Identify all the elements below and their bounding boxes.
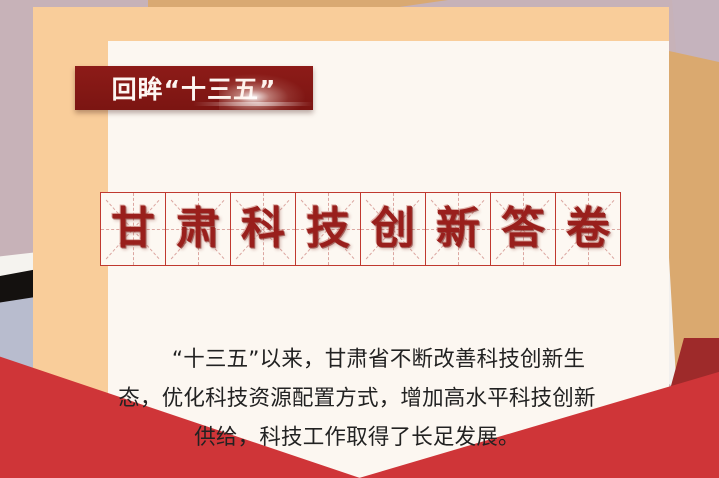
headline-grid-cell: 甘 — [101, 193, 166, 265]
headline-grid-cell: 科 — [231, 193, 296, 265]
headline-character: 答 — [491, 193, 555, 265]
poster-canvas: 回眸“十三五” 甘 肃 科 — [0, 0, 719, 478]
headline-character: 科 — [231, 193, 295, 265]
backdrop-right-lavender-sheet — [672, 0, 719, 400]
headline-character: 肃 — [166, 193, 230, 265]
headline-character: 新 — [426, 193, 490, 265]
headline-grid-cell: 技 — [296, 193, 361, 265]
headline-grid-cell: 卷 — [556, 193, 620, 265]
section-banner: 回眸“十三五” — [75, 66, 313, 110]
banner-light-streak-icon — [193, 102, 313, 106]
headline-grid: 甘 肃 科 技 创 — [100, 192, 621, 266]
headline-grid-cell: 创 — [361, 193, 426, 265]
headline-grid-cell: 新 — [426, 193, 491, 265]
headline-character: 甘 — [101, 193, 165, 265]
headline-character: 创 — [361, 193, 425, 265]
body-paragraph: “十三五”以来，甘肃省不断改善科技创新生态，优化科技资源配置方式，增加高水平科技… — [118, 340, 596, 457]
headline-character: 技 — [296, 193, 360, 265]
headline-character: 卷 — [556, 193, 620, 265]
headline-grid-cell: 肃 — [166, 193, 231, 265]
headline-grid-cell: 答 — [491, 193, 556, 265]
